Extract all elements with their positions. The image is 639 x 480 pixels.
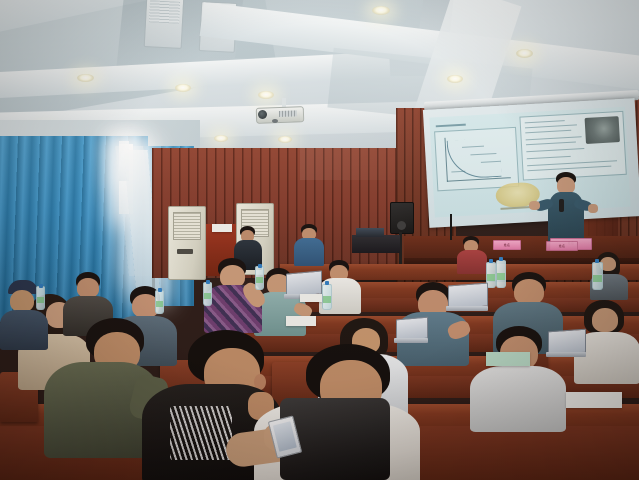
- slide-micrograph: [585, 116, 620, 144]
- hoodie-graphic-print: [170, 406, 232, 460]
- presenter-hand-left: [529, 201, 540, 210]
- ceiling-air-duct: [144, 0, 185, 49]
- notebook: [486, 352, 530, 366]
- conference-room-photo: 姓名 姓名 姓名: [0, 0, 639, 480]
- open-laptop: [446, 284, 488, 314]
- slide-text-panel: [519, 111, 626, 181]
- open-laptop: [546, 330, 586, 360]
- av-equipment: [352, 235, 400, 253]
- water-bottle: [496, 260, 506, 288]
- ceiling-projector: [252, 98, 304, 128]
- desk-nameplate: 姓名: [546, 241, 578, 251]
- presenter-hand-right: [588, 204, 598, 213]
- water-bottle: [322, 284, 332, 310]
- attendee-red-shirt: [455, 236, 489, 270]
- ceiling-downlight: [372, 6, 390, 15]
- av-equipment: [356, 228, 384, 237]
- projector-light-beam: [300, 110, 440, 180]
- ceiling-downlight: [77, 74, 94, 82]
- projector-lens-icon: [258, 110, 267, 119]
- ceiling-downlight: [214, 135, 228, 142]
- nameplate-label: 姓名: [547, 244, 577, 248]
- floor-standing-air-conditioner: [168, 206, 206, 280]
- notebook: [566, 392, 622, 408]
- notebook: [300, 294, 322, 302]
- wireless-microphone: [559, 199, 564, 212]
- water-bottle: [203, 282, 212, 306]
- ceiling-downlight: [516, 49, 533, 58]
- ceiling-downlight: [447, 75, 463, 83]
- open-laptop: [394, 318, 428, 346]
- water-bottle: [592, 262, 603, 290]
- paper: [212, 224, 232, 232]
- notebook: [286, 316, 316, 326]
- attendee-back-blue: [292, 224, 326, 264]
- water-bottle: [255, 266, 264, 290]
- water-bottle: [155, 290, 164, 314]
- ceiling-downlight: [175, 84, 191, 92]
- water-bottle: [36, 286, 45, 310]
- ceiling-downlight: [278, 136, 292, 143]
- nameplate-label: 姓名: [494, 243, 520, 247]
- slide-chart-panel: [434, 127, 519, 191]
- desk-nameplate: 姓名: [493, 240, 521, 250]
- pa-speaker: [390, 202, 414, 234]
- mic-stand: [450, 214, 452, 240]
